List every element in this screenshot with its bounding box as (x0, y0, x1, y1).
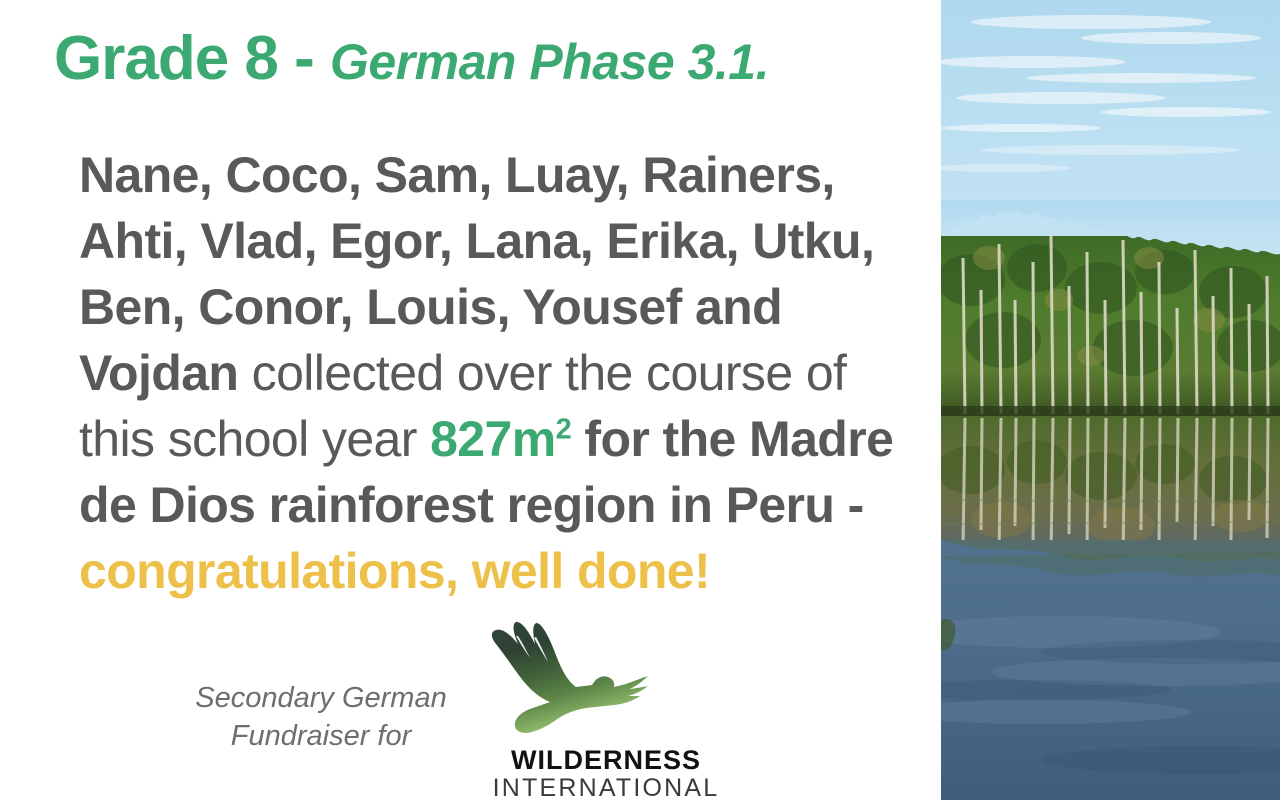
fundraiser-caption: Secondary German Fundraiser for (168, 680, 474, 755)
fundraiser-caption-line1: Secondary German (168, 680, 474, 718)
headline-subtitle: German Phase 3.1. (330, 34, 769, 90)
after-amount-text: for the (571, 411, 749, 467)
rainforest-lake-photo (941, 0, 1280, 800)
congratulations-text: congratulations, well done! (79, 543, 710, 599)
logo-wordmark-bottom: INTERNATIONAL (466, 774, 746, 800)
page-title: Grade 8 - German Phase 3.1. (54, 28, 769, 90)
logo-wordmark-top: WILDERNESS (466, 746, 746, 774)
area-amount-value: 827m (430, 411, 555, 467)
body-paragraph: Nane, Coco, Sam, Luay, Rainers, Ahti, Vl… (79, 142, 919, 604)
content-panel: Grade 8 - German Phase 3.1. Nane, Coco, … (0, 0, 941, 800)
headline-main: Grade 8 - (54, 24, 330, 93)
logo-wordmark: WILDERNESS INTERNATIONAL (466, 746, 746, 800)
area-amount-superscript: 2 (556, 413, 572, 445)
fundraiser-caption-line2: Fundraiser for (168, 718, 474, 756)
footer-area: Secondary German Fundraiser for (0, 612, 941, 800)
area-amount: 827m2 (430, 411, 571, 467)
eagle-logo-icon (466, 614, 662, 744)
poster-canvas: Grade 8 - German Phase 3.1. Nane, Coco, … (0, 0, 1280, 800)
wilderness-international-logo: WILDERNESS INTERNATIONAL (466, 612, 796, 800)
